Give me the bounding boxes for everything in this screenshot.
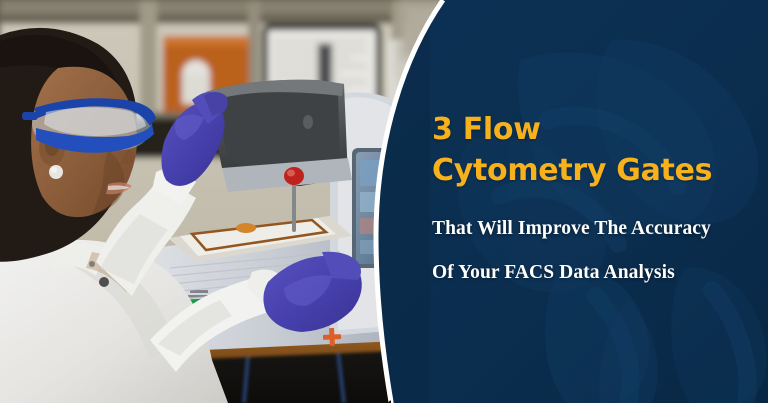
navy-text-panel xyxy=(0,0,768,403)
article-hero-banner: 3 Flow Cytometry Gates That Will Improve… xyxy=(0,0,768,403)
panel-fill xyxy=(370,0,768,403)
